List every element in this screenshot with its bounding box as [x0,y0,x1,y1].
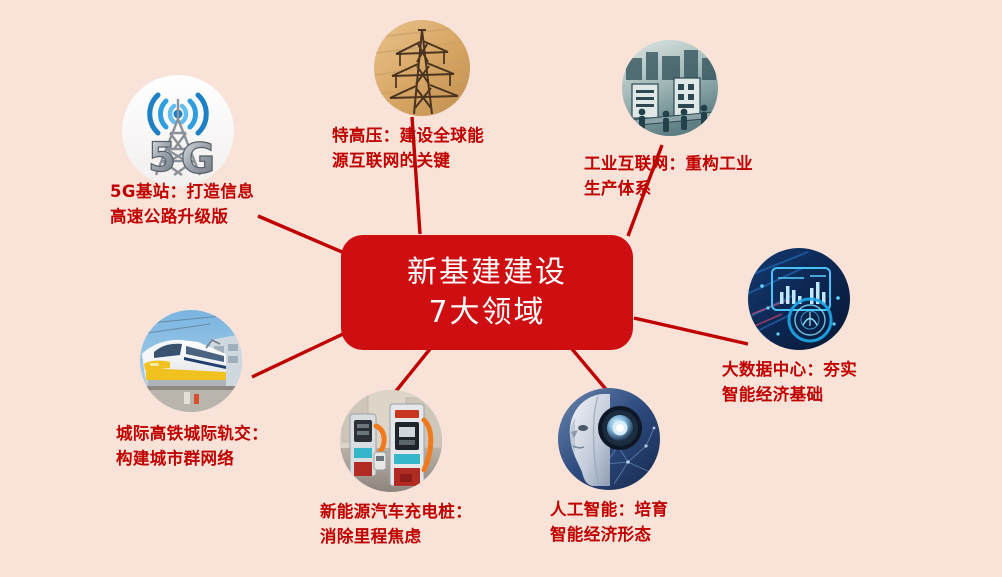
power-pylon-icon [374,20,470,116]
node-big-data-center-label-line-2: 智能经济基础 [722,383,857,408]
node-intercity-rail-label: 城际高铁城际轨交： 构建城市群网络 [116,422,268,472]
infographic-canvas: 新基建建设 7大领域 [0,0,1002,577]
connector-line-big-data-center [634,318,748,344]
node-industrial-internet-label: 工业互联网：重构工业 生产体系 [584,152,753,202]
node-uhv-label-line-2: 源互联网的关键 [332,149,484,174]
node-artificial-intelligence-label-line-1: 人工智能：培育 [550,498,668,523]
node-intercity-rail-label-line-2: 构建城市群网络 [116,447,268,472]
node-big-data-center-label-line-1: 大数据中心：夯实 [722,358,857,383]
charging-pile-icon [340,390,442,492]
node-5g-label: 5G基站：打造信息 高速公路升级版 [110,180,254,230]
hub-title-line-2: 7大领域 [428,293,545,333]
node-uhv-label: 特高压：建设全球能 源互联网的关键 [332,124,484,174]
node-5g-label-line-2: 高速公路升级版 [110,205,254,230]
node-ev-charging-label: 新能源汽车充电桩： 消除里程焦虑 [320,500,472,550]
5g-tower-icon: 5 G [122,75,234,187]
factory-icon [622,40,718,136]
node-5g-label-line-1: 5G基站：打造信息 [110,180,254,205]
node-artificial-intelligence-label-line-2: 智能经济形态 [550,523,668,548]
connector-line-5g [258,216,349,255]
node-industrial-internet-label-line-2: 生产体系 [584,177,753,202]
connector-line-ev [392,349,430,396]
node-artificial-intelligence-label: 人工智能：培育 智能经济形态 [550,498,668,548]
node-industrial-internet-label-line-1: 工业互联网：重构工业 [584,152,753,177]
connector-line-rail [252,334,343,377]
svg-text:5: 5 [148,135,176,181]
bullet-train-icon [140,310,242,412]
node-intercity-rail-label-line-1: 城际高铁城际轨交： [116,422,268,447]
node-ev-charging-label-line-1: 新能源汽车充电桩： [320,500,472,525]
node-ev-charging-label-line-2: 消除里程焦虑 [320,525,472,550]
robot-face-icon [558,388,660,490]
svg-text:G: G [181,134,215,183]
hub-title-line-1: 新基建建设 [407,253,567,293]
hub-center-box: 新基建建设 7大领域 [341,235,633,350]
node-uhv-label-line-1: 特高压：建设全球能 [332,124,484,149]
node-big-data-center-label: 大数据中心：夯实 智能经济基础 [722,358,857,408]
data-dashboard-icon [748,248,850,350]
